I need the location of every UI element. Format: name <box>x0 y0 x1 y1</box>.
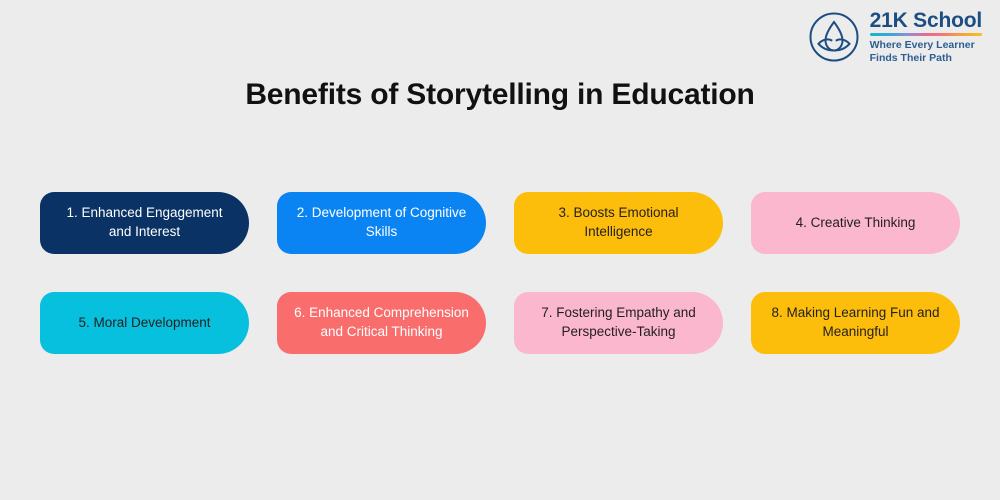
brand-tagline-line-1: Where Every Learner <box>870 39 982 52</box>
brand-tagline: Where Every Learner Finds Their Path <box>870 39 982 65</box>
benefit-card-3[interactable]: 3. Boosts Emotional Intelligence <box>514 192 723 254</box>
benefit-card-7[interactable]: 7. Fostering Empathy and Perspective-Tak… <box>514 292 723 354</box>
benefit-card-8[interactable]: 8. Making Learning Fun and Meaningful <box>751 292 960 354</box>
brand-logo-text: 21K School Where Every Learner Finds The… <box>870 10 982 65</box>
page-title: Benefits of Storytelling in Education <box>0 78 1000 112</box>
benefit-card-label: 4. Creative Thinking <box>796 214 916 233</box>
benefit-card-label: 7. Fostering Empathy and Perspective-Tak… <box>530 304 707 341</box>
benefit-card-label: 5. Moral Development <box>78 314 210 333</box>
brand-tagline-line-2: Finds Their Path <box>870 52 982 65</box>
brand-gradient-rule <box>870 33 982 36</box>
benefit-card-2[interactable]: 2. Development of Cognitive Skills <box>277 192 486 254</box>
benefit-card-label: 3. Boosts Emotional Intelligence <box>530 204 707 241</box>
benefits-grid: 1. Enhanced Engagement and Interest 2. D… <box>40 192 960 354</box>
benefit-card-label: 2. Development of Cognitive Skills <box>293 204 470 241</box>
benefit-card-4[interactable]: 4. Creative Thinking <box>751 192 960 254</box>
benefit-card-5[interactable]: 5. Moral Development <box>40 292 249 354</box>
lotus-in-circle-icon <box>808 11 860 63</box>
brand-logo: 21K School Where Every Learner Finds The… <box>808 10 982 65</box>
benefit-card-label: 8. Making Learning Fun and Meaningful <box>767 304 944 341</box>
brand-name: 21K School <box>870 10 982 31</box>
benefit-card-6[interactable]: 6. Enhanced Comprehension and Critical T… <box>277 292 486 354</box>
benefit-card-label: 1. Enhanced Engagement and Interest <box>56 204 233 241</box>
benefit-card-1[interactable]: 1. Enhanced Engagement and Interest <box>40 192 249 254</box>
benefit-card-label: 6. Enhanced Comprehension and Critical T… <box>293 304 470 341</box>
